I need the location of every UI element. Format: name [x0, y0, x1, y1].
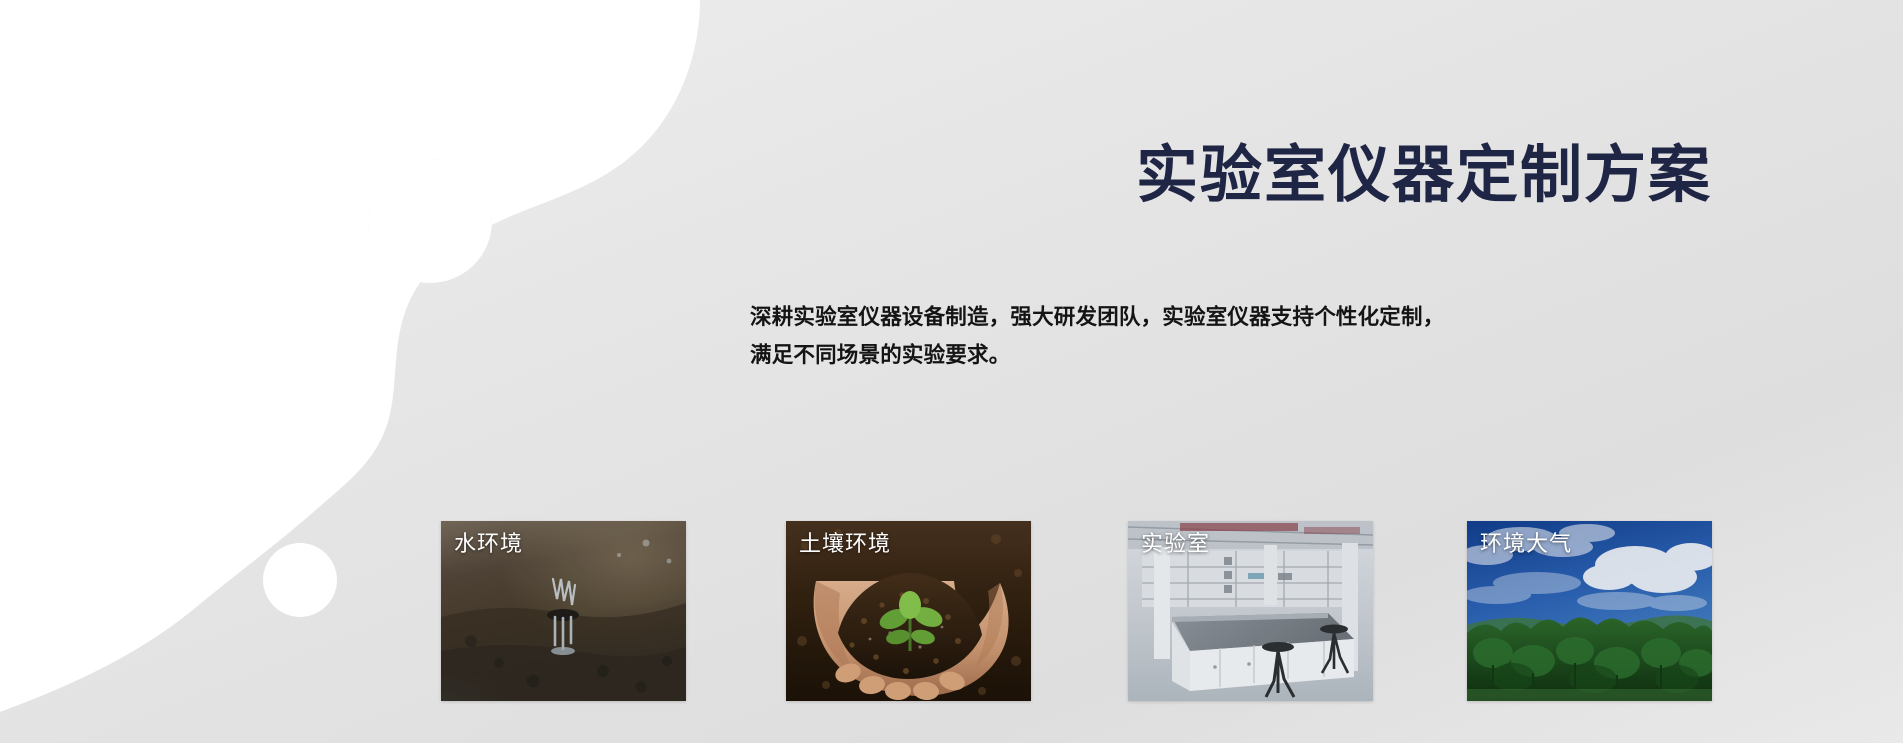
card-label: 水环境 [454, 530, 523, 558]
card-label: 环境大气 [1480, 530, 1572, 558]
category-card-laboratory[interactable]: 实验室 [1128, 521, 1373, 701]
decorative-circle-large [368, 159, 492, 283]
category-card-water[interactable]: 水环境 [441, 521, 686, 701]
category-card-atmosphere[interactable]: 环境大气 [1467, 521, 1712, 701]
category-card-list: 水环境 [0, 521, 1903, 703]
card-label: 实验室 [1141, 530, 1210, 558]
hero-banner: 实验室仪器定制方案 深耕实验室仪器设备制造，强大研发团队，实验室仪器支持个性化定… [0, 0, 1903, 743]
category-card-soil[interactable]: 土壤环境 [786, 521, 1031, 701]
card-label: 土壤环境 [799, 530, 891, 558]
